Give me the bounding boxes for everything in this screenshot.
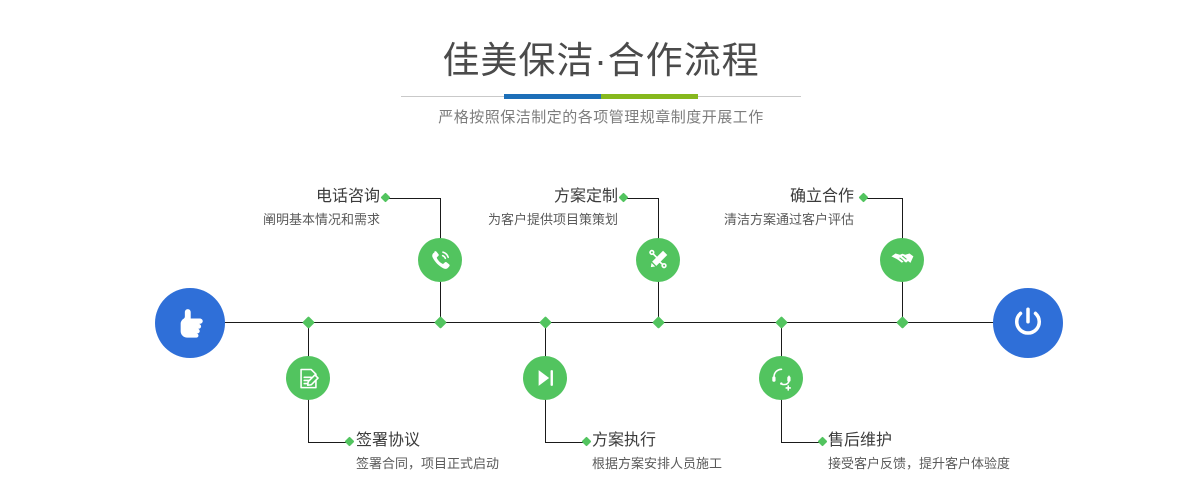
- timeline-axis: [160, 322, 1042, 323]
- connector-marker-2: [345, 437, 355, 447]
- step-desc-1: 阐明基本情况和需求: [130, 209, 380, 231]
- step-title-4: 方案执行: [592, 430, 852, 452]
- connector-arm-5: [864, 198, 903, 199]
- step-title-6: 售后维护: [828, 430, 1128, 452]
- divider-segment-green: [601, 94, 698, 99]
- step-node-4[interactable]: [523, 356, 567, 400]
- divider-segment-blue: [504, 94, 601, 99]
- step-node-2[interactable]: [286, 356, 330, 400]
- step-label-6: 售后维护 接受客户反馈，提升客户体验度: [828, 430, 1128, 475]
- step-title-3: 方案定制: [400, 186, 618, 208]
- axis-marker-4: [539, 316, 552, 329]
- step-label-5: 确立合作 清洁方案通过客户评估: [648, 186, 854, 231]
- step-desc-5: 清洁方案通过客户评估: [648, 209, 854, 231]
- connector-marker-1: [381, 193, 391, 203]
- page-subtitle: 严格按照保洁制定的各项管理规章制度开展工作: [0, 107, 1202, 129]
- axis-marker-2: [302, 316, 315, 329]
- cooperation-process-infographic: 佳美保洁·合作流程 严格按照保洁制定的各项管理规章制度开展工作: [0, 0, 1202, 502]
- document-edit-icon: [296, 366, 321, 391]
- timeline-start-node[interactable]: [155, 288, 225, 358]
- step-title-2: 签署协议: [356, 430, 616, 452]
- connector-marker-5: [859, 193, 869, 203]
- step-desc-4: 根据方案安排人员施工: [592, 453, 852, 475]
- connector-marker-3: [619, 193, 629, 203]
- step-label-2: 签署协议 签署合同，项目正式启动: [356, 430, 616, 475]
- step-title-5: 确立合作: [648, 186, 854, 208]
- axis-marker-1: [434, 316, 447, 329]
- handshake-icon: [889, 247, 915, 273]
- step-desc-2: 签署合同，项目正式启动: [356, 453, 616, 475]
- title-divider: [401, 94, 801, 99]
- power-button-icon: [1008, 303, 1048, 343]
- customer-service-icon: [769, 366, 794, 391]
- step-node-3[interactable]: [636, 238, 680, 282]
- step-label-3: 方案定制 为客户提供项目策策划: [400, 186, 618, 231]
- connector-arm-2: [308, 442, 350, 443]
- pencil-compass-icon: [645, 247, 671, 273]
- axis-marker-5: [896, 316, 909, 329]
- step-node-6[interactable]: [759, 356, 803, 400]
- phone-call-icon: [427, 247, 453, 273]
- step-title-1: 电话咨询: [130, 186, 380, 208]
- page-title: 佳美保洁·合作流程: [0, 38, 1202, 84]
- timeline-end-node[interactable]: [993, 288, 1063, 358]
- pointing-hand-icon: [171, 304, 209, 342]
- step-node-1[interactable]: [418, 238, 462, 282]
- axis-marker-3: [652, 316, 665, 329]
- step-label-4: 方案执行 根据方案安排人员施工: [592, 430, 852, 475]
- play-execute-icon: [533, 366, 557, 390]
- step-desc-3: 为客户提供项目策策划: [400, 209, 618, 231]
- step-desc-6: 接受客户反馈，提升客户体验度: [828, 453, 1128, 475]
- step-node-5[interactable]: [880, 238, 924, 282]
- step-label-1: 电话咨询 阐明基本情况和需求: [130, 186, 380, 231]
- axis-marker-6: [775, 316, 788, 329]
